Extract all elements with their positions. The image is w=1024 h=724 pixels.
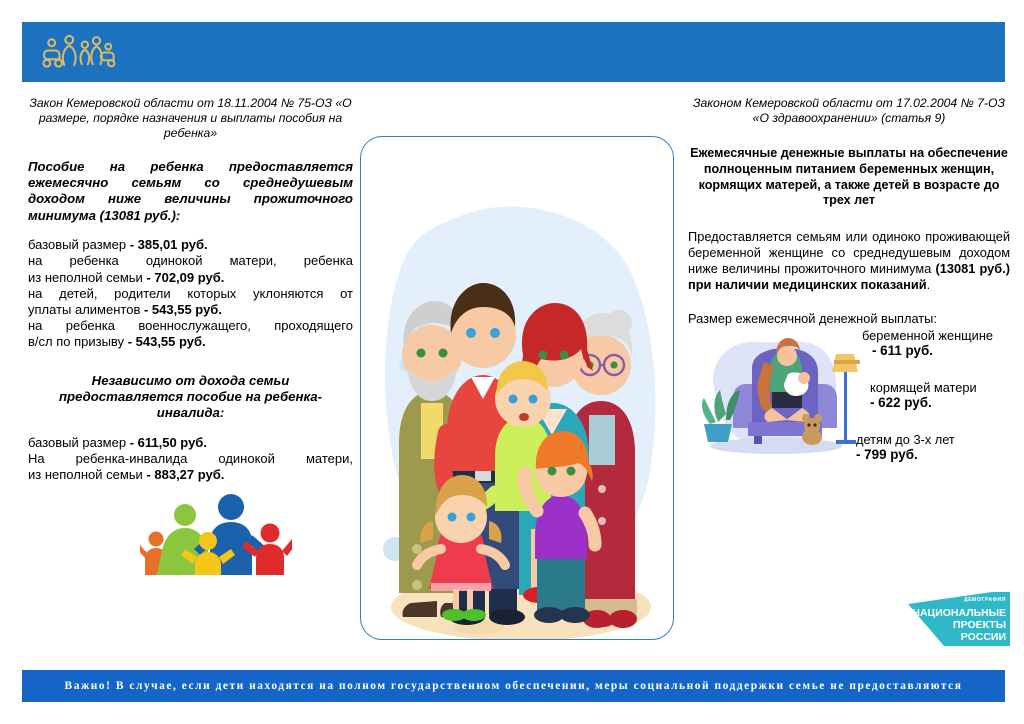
- right-subheading: Размер ежемесячной денежной выплаты:: [688, 311, 1010, 327]
- right-column: Законом Кемеровской области от 17.02.200…: [688, 96, 1010, 327]
- rate-label: на ребенка одинокой матери, ребенка: [28, 253, 353, 268]
- colorful-family-pictogram: [140, 483, 292, 575]
- payout-value: - 611 руб.: [872, 343, 1012, 359]
- payout-value: - 622 руб.: [870, 395, 1012, 411]
- footer-text: Важно! В случае, если дети находятся на …: [65, 680, 963, 692]
- payout-item: кормящей матери - 622 руб.: [862, 380, 1012, 411]
- np-logo-line1: НАЦИОНАЛЬНЫЕ: [912, 607, 1006, 619]
- rate-label: на ребенка военнослужащего, проходящего: [28, 318, 353, 333]
- right-paragraph: Предоставляется семьям или одиноко прожи…: [688, 229, 1010, 294]
- family-illustration-card: [360, 136, 674, 640]
- np-logo-line3: РОССИИ: [961, 631, 1006, 643]
- nursing-mother-armchair-illustration: [690, 330, 860, 460]
- paragraph-period: .: [927, 277, 931, 292]
- rate-label: из неполной семьи: [28, 270, 143, 285]
- footer-bar: Важно! В случае, если дети находятся на …: [22, 670, 1005, 702]
- payout-label: беременной женщине: [862, 328, 1012, 343]
- rate-label: уплаты алиментов: [28, 302, 140, 317]
- payout-item: детям до 3-х лет - 799 руб.: [862, 432, 1012, 463]
- rate-amount: - 543,55 руб.: [128, 334, 206, 349]
- disabled-child-rate-list: базовый размер - 611,50 руб. На ребенка-…: [28, 435, 353, 484]
- left-law-title: Закон Кемеровской области от 18.11.2004 …: [28, 96, 353, 142]
- rate-row: базовый размер - 611,50 руб.: [28, 435, 353, 451]
- rate-amount: - 543,55 руб.: [144, 302, 222, 317]
- rate-row: уплаты алиментов - 543,55 руб.: [28, 302, 353, 318]
- payout-label: детям до 3-х лет: [856, 432, 1012, 447]
- rate-label: из неполной семьи: [28, 467, 143, 482]
- rate-amount: - 702,09 руб.: [146, 270, 224, 285]
- rate-label: на детей, родители которых уклоняются от: [28, 286, 353, 301]
- header-bar: [22, 22, 1005, 82]
- right-heading: Ежемесячные денежные выплаты на обеспече…: [688, 146, 1010, 208]
- rate-row: из неполной семьи - 883,27 руб.: [28, 467, 353, 483]
- rate-label: На ребенка-инвалида одинокой матери,: [28, 451, 353, 466]
- rate-label: базовый размер: [28, 435, 126, 450]
- rate-row: в/сл по призыву - 543,55 руб.: [28, 334, 353, 350]
- np-logo-top-label: ДЕМОГРАФИЯ: [964, 597, 1006, 603]
- np-logo-line2: ПРОЕКТЫ: [953, 619, 1006, 631]
- payout-item: беременной женщине - 611 руб.: [862, 328, 1012, 359]
- rate-label: базовый размер: [28, 237, 126, 252]
- national-projects-logo: ДЕМОГРАФИЯ НАЦИОНАЛЬНЫЕ ПРОЕКТЫ РОССИИ: [906, 590, 1010, 648]
- rate-label: в/сл по призыву: [28, 334, 124, 349]
- rate-amount: - 385,01 руб.: [130, 237, 208, 252]
- payout-list: беременной женщине - 611 руб. кормящей м…: [862, 328, 1012, 463]
- child-benefit-rate-list: базовый размер - 385,01 руб. на ребенка …: [28, 237, 353, 350]
- payout-label: кормящей матери: [870, 380, 1012, 395]
- three-generation-family-illustration: [361, 137, 673, 639]
- rate-row: на ребенка военнослужащего, проходящего: [28, 318, 353, 334]
- rate-row: На ребенка-инвалида одинокой матери,: [28, 451, 353, 467]
- left-column: Закон Кемеровской области от 18.11.2004 …: [28, 96, 353, 483]
- rate-amount: - 883,27 руб.: [146, 467, 224, 482]
- left-lead-paragraph: Пособие на ребенка предоставляется ежеме…: [28, 159, 353, 225]
- rate-row: на ребенка одинокой матери, ребенка: [28, 253, 353, 269]
- rate-row: из неполной семьи - 702,09 руб.: [28, 270, 353, 286]
- rate-amount: - 611,50 руб.: [130, 435, 207, 450]
- rate-row: на детей, родители которых уклоняются от: [28, 286, 353, 302]
- rate-row: базовый размер - 385,01 руб.: [28, 237, 353, 253]
- right-law-title: Законом Кемеровской области от 17.02.200…: [688, 96, 1010, 126]
- disabled-child-heading: Независимо от дохода семьи предоставляет…: [28, 373, 353, 422]
- payout-value: - 799 руб.: [856, 447, 1012, 463]
- family-accessibility-logo: [40, 30, 118, 74]
